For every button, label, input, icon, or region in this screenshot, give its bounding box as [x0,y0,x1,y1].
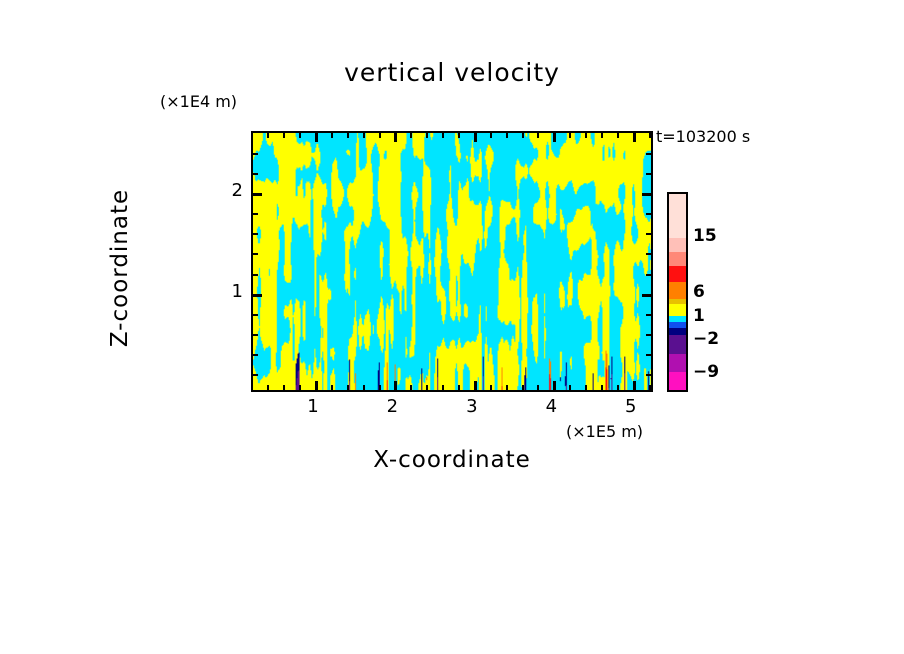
minor-tick [601,133,603,138]
major-tick [633,133,636,142]
minor-tick [646,213,651,215]
minor-tick [617,385,619,390]
major-tick [553,133,556,142]
y-axis-title: Z-coordinate [107,128,133,408]
colorbar-band-3 [669,266,686,282]
minor-tick [537,133,539,138]
minor-tick [646,334,651,336]
colorbar-label-15: 15 [693,226,717,246]
minor-tick [646,354,651,356]
minor-tick [410,133,412,138]
colorbar-label--9: −9 [693,362,719,382]
colorbar-band-12 [669,354,686,372]
minor-tick [458,133,460,138]
major-tick [394,381,397,390]
colorbar[interactable] [667,192,688,392]
minor-tick [646,274,651,276]
major-tick [315,381,318,390]
minor-tick [379,133,381,138]
minor-tick [426,385,428,390]
minor-tick [283,385,285,390]
minor-tick [253,314,258,316]
minor-tick [253,213,258,215]
colorbar-label-1: 1 [693,306,705,326]
minor-tick [267,133,269,138]
minor-tick [506,385,508,390]
timestamp-annotation: t=103200 s [656,127,750,146]
minor-tick [649,133,651,138]
minor-tick [601,385,603,390]
minor-tick [363,385,365,390]
minor-tick [646,253,651,255]
major-tick [474,381,477,390]
minor-tick [646,374,651,376]
colorbar-label--2: −2 [693,329,719,349]
minor-tick [299,133,301,138]
minor-tick [646,153,651,155]
minor-tick [522,385,524,390]
figure-canvas: vertical velocity (×1E4 m) t=103200 s 12… [0,0,904,654]
minor-tick [585,133,587,138]
y-axis-units-label: (×1E4 m) [160,92,237,111]
major-tick [553,381,556,390]
minor-tick [649,385,651,390]
y-tick-label-1: 2 [221,180,243,201]
major-tick [474,133,477,142]
colorbar-band-8 [669,316,686,323]
minor-tick [379,385,381,390]
minor-tick [522,133,524,138]
x-axis-units-label: (×1E5 m) [566,422,643,441]
minor-tick [283,133,285,138]
minor-tick [569,385,571,390]
major-tick [633,381,636,390]
x-tick-label-3: 4 [536,396,566,417]
colorbar-band-0 [669,194,686,238]
minor-tick [253,173,258,175]
minor-tick [458,385,460,390]
minor-tick [331,385,333,390]
major-tick [315,133,318,142]
x-tick-label-0: 1 [298,396,328,417]
minor-tick [442,385,444,390]
major-tick [642,193,651,196]
minor-tick [585,385,587,390]
minor-tick [253,253,258,255]
minor-tick [253,354,258,356]
minor-tick [299,385,301,390]
minor-tick [253,334,258,336]
y-tick-label-0: 1 [221,281,243,302]
minor-tick [331,133,333,138]
major-tick [394,133,397,142]
minor-tick [253,274,258,276]
page-title: vertical velocity [251,58,653,87]
minor-tick [253,374,258,376]
minor-tick [253,233,258,235]
minor-tick [506,133,508,138]
minor-tick [490,385,492,390]
minor-tick [646,314,651,316]
x-tick-label-1: 2 [377,396,407,417]
colorbar-band-11 [669,335,686,354]
colorbar-band-13 [669,372,686,390]
minor-tick [646,173,651,175]
minor-tick [442,133,444,138]
minor-tick [253,153,258,155]
contour-field [253,133,651,390]
x-tick-label-2: 3 [457,396,487,417]
minor-tick [490,133,492,138]
colorbar-band-2 [669,252,686,266]
colorbar-band-4 [669,282,686,298]
plot-area[interactable] [251,131,653,392]
colorbar-band-10 [669,328,686,335]
minor-tick [426,133,428,138]
minor-tick [347,133,349,138]
minor-tick [537,385,539,390]
major-tick [253,294,262,297]
x-axis-title: X-coordinate [251,447,653,473]
colorbar-band-1 [669,238,686,252]
colorbar-label-6: 6 [693,282,705,302]
x-tick-label-4: 5 [616,396,646,417]
minor-tick [569,133,571,138]
minor-tick [363,133,365,138]
major-tick [642,294,651,297]
major-tick [253,193,262,196]
minor-tick [347,385,349,390]
minor-tick [267,385,269,390]
minor-tick [617,133,619,138]
minor-tick [410,385,412,390]
minor-tick [646,233,651,235]
